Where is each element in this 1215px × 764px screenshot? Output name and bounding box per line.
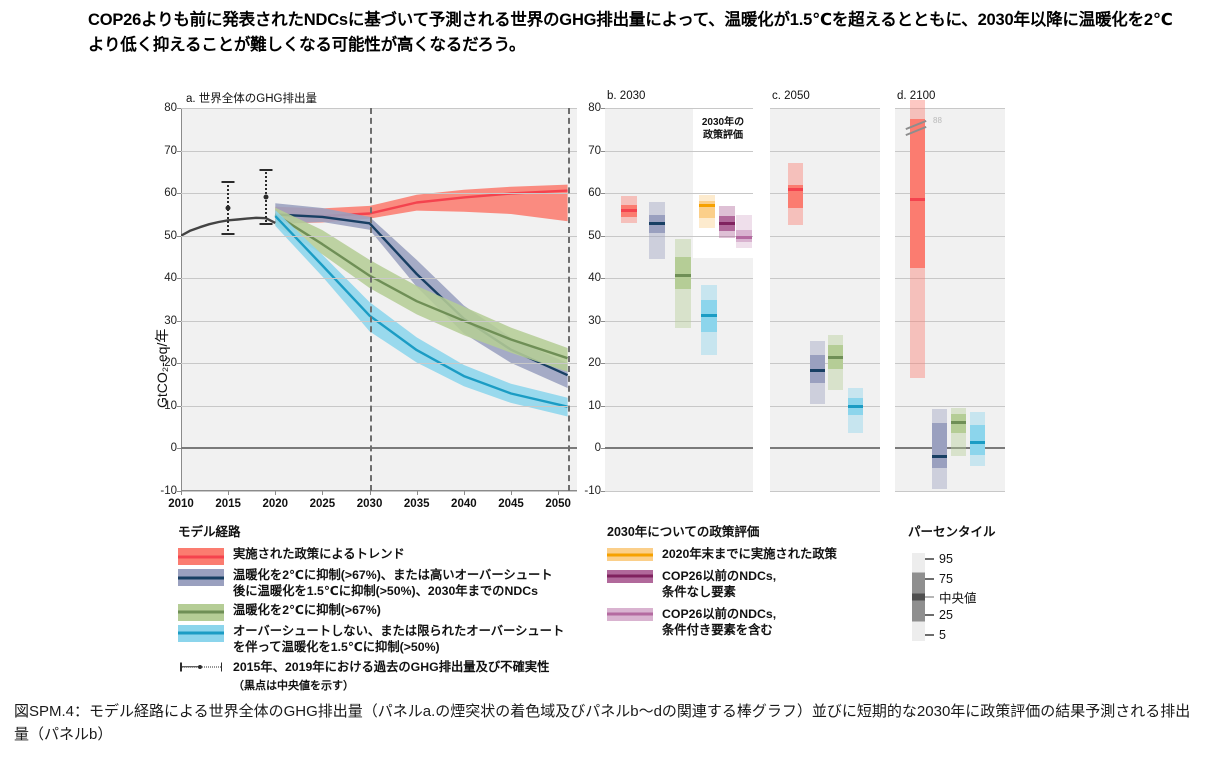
bar-median-line xyxy=(788,188,803,191)
y-tick-label: 40 xyxy=(151,272,177,284)
panel-b-title: b. 2030 xyxy=(607,90,645,102)
gridline xyxy=(181,278,577,279)
page-headline: COP26よりも前に発表されたNDCsに基づいて予測される世界のGHG排出量によ… xyxy=(88,8,1178,58)
x-tick-mark xyxy=(558,491,559,495)
gridline xyxy=(181,151,577,152)
bar-segment-p5-p25 xyxy=(828,369,843,389)
figure-spm4: GtCO₂-eq/年 a. 世界全体のGHG排出量 80706050403020… xyxy=(0,78,1215,693)
gridline xyxy=(770,321,880,322)
y-tick-mark xyxy=(601,363,605,364)
gridline xyxy=(770,193,880,194)
bar-segment-p75-p95 xyxy=(675,239,691,257)
x-tick-label: 2035 xyxy=(404,498,430,510)
y-tick-label: 40 xyxy=(575,272,601,284)
gridline xyxy=(605,363,753,364)
y-tick-label: 10 xyxy=(151,400,177,412)
gridline xyxy=(181,108,577,109)
bar-segment-p75-p95 xyxy=(848,388,863,398)
bar-column xyxy=(719,206,735,237)
bar-column xyxy=(699,195,715,228)
y-tick-mark xyxy=(601,448,605,449)
x-tick-mark xyxy=(417,491,418,495)
y-tick-label: 20 xyxy=(575,357,601,369)
y-tick-mark xyxy=(177,193,181,194)
panel-b-letter: b. xyxy=(607,90,617,102)
percentile-tick xyxy=(925,558,934,560)
y-tick-label: 60 xyxy=(575,187,601,199)
bar-segment-p5-p25 xyxy=(736,242,752,248)
bar-column xyxy=(828,335,843,389)
legend-swatch xyxy=(178,548,224,565)
bar-segment-p5-p25 xyxy=(788,208,803,225)
gridline xyxy=(181,321,577,322)
bar-segment-p5-p25 xyxy=(848,415,863,433)
bar-column xyxy=(736,215,752,248)
bar-column xyxy=(701,285,717,355)
percentile-gradient-bar xyxy=(912,553,925,641)
bar-column xyxy=(621,196,637,223)
bar-segment-p5-p25 xyxy=(910,268,925,379)
y-tick-mark xyxy=(177,406,181,407)
gridline xyxy=(770,363,880,364)
bar-segment-p75-p95 xyxy=(810,341,825,355)
legend-item-label: 実施された政策によるトレンド xyxy=(233,547,405,563)
bar-median-line xyxy=(621,209,637,212)
panel-c-title: c. 2050 xyxy=(772,90,810,102)
y-tick-mark xyxy=(177,278,181,279)
bar-segment-p5-p25 xyxy=(951,433,966,456)
percentile-tick xyxy=(925,634,934,636)
y-tick-mark xyxy=(601,236,605,237)
y-tick-label: 70 xyxy=(151,145,177,157)
legend-historic-row: 2015年、2019年における過去のGHG排出量及び不確実性 xyxy=(178,660,598,676)
zero-line xyxy=(181,447,577,449)
bar-segment-p75-p95 xyxy=(970,412,985,425)
legend-policy-assessment: 2030年についての政策評価 2020年末までに実施された政策COP26以前のN… xyxy=(607,521,897,645)
bar-segment-p5-p25 xyxy=(932,468,947,489)
legend-model-rows: 実施された政策によるトレンド温暖化を2℃に抑制(>67%)、または高いオーバーシ… xyxy=(178,547,598,656)
x-tick-label: 2050 xyxy=(545,498,571,510)
panel-d-plot: 88 xyxy=(895,108,1005,491)
percentile-label-row: 75 xyxy=(925,572,953,586)
legend-item-model-1: 温暖化を2℃に抑制(>67%)、または高いオーバーシュート後に温暖化を1.5℃に… xyxy=(178,568,598,600)
vertical-marker-2051 xyxy=(568,108,570,491)
zero-line xyxy=(895,447,1005,449)
percentile-tick xyxy=(925,596,934,598)
legend-item-label: 温暖化を2℃に抑制(>67%) xyxy=(233,603,381,619)
y-tick-label: 10 xyxy=(575,400,601,412)
panel-c-plot xyxy=(770,108,880,491)
y-tick-mark xyxy=(601,491,605,492)
figure-caption: 図SPM.4：モデル経路による世界全体のGHG排出量（パネルa.の煙突状の着色域… xyxy=(14,700,1204,747)
bar-segment-p25-p75 xyxy=(932,423,947,468)
bar-segment-p75-p95 xyxy=(932,409,947,423)
bar-segment-p75-p95 xyxy=(621,196,637,205)
legend-item-label: 温暖化を2℃に抑制(>67%)、または高いオーバーシュート後に温暖化を1.5℃に… xyxy=(233,568,553,600)
panel-b-plot: 2030年の政策評価 xyxy=(605,108,753,491)
legend-percentile-title: パーセンタイル xyxy=(908,521,1068,540)
percentile-label-row: 95 xyxy=(925,552,953,566)
percentile-label: 5 xyxy=(939,628,946,642)
y-tick-mark xyxy=(601,151,605,152)
bar-median-line xyxy=(970,441,985,444)
x-tick-label: 2015 xyxy=(215,498,241,510)
panel-a-title: a. 世界全体のGHG排出量 xyxy=(186,90,317,106)
bar-median-line xyxy=(848,405,863,408)
gridline xyxy=(181,363,577,364)
legend-item-label: COP26以前のNDCs,条件なし要素 xyxy=(662,569,776,601)
y-tick-label: 0 xyxy=(151,442,177,454)
x-tick-mark xyxy=(370,491,371,495)
bar-segment-p75-p95 xyxy=(910,100,925,119)
bar-segment-p25-p75 xyxy=(699,201,715,218)
bar-column xyxy=(675,239,691,328)
gridline xyxy=(770,108,880,109)
bar-median-line xyxy=(699,204,715,207)
percentile-label-row: 中央値 xyxy=(925,588,977,607)
bar-segment-p5-p25 xyxy=(810,383,825,403)
bar-segment-p5-p25 xyxy=(719,231,735,237)
bar-median-line xyxy=(649,222,665,225)
bar-median-line xyxy=(910,198,925,201)
gridline xyxy=(181,193,577,194)
x-tick-mark xyxy=(464,491,465,495)
x-tick-mark xyxy=(322,491,323,495)
y-tick-label: 30 xyxy=(575,315,601,327)
bar-segment-p5-p25 xyxy=(701,332,717,355)
y-tick-mark xyxy=(177,321,181,322)
y-tick-mark xyxy=(177,236,181,237)
bar-segment-p75-p95 xyxy=(736,215,752,230)
error-bar-2015 xyxy=(220,181,236,235)
y-tick-label: 30 xyxy=(151,315,177,327)
panel-c-name: 2050 xyxy=(784,90,810,102)
gridline xyxy=(895,406,1005,407)
y-tick-label: 70 xyxy=(575,145,601,157)
y-tick-mark xyxy=(177,363,181,364)
legend-swatch xyxy=(178,604,224,621)
gridline xyxy=(770,236,880,237)
error-bar-cap-high xyxy=(222,181,235,183)
error-bar-2019 xyxy=(258,169,274,224)
bar-median-line xyxy=(675,274,691,277)
bar-segment-p75-p95 xyxy=(788,163,803,184)
percentile-label: 95 xyxy=(939,552,953,566)
gridline xyxy=(770,406,880,407)
y-tick-mark xyxy=(601,406,605,407)
bar-segment-p75-p95 xyxy=(649,202,665,216)
panel-a-letter: a. xyxy=(186,93,196,105)
y-tick-label: 80 xyxy=(151,102,177,114)
y-tick-label: 60 xyxy=(151,187,177,199)
legend-item-label: 2020年末までに実施された政策 xyxy=(662,547,837,563)
bar-median-line xyxy=(736,236,752,239)
y-tick-mark xyxy=(601,108,605,109)
axis-break-marker xyxy=(905,122,931,136)
gridline xyxy=(605,406,753,407)
legend-historic-label: 2015年、2019年における過去のGHG排出量及び不確実性 xyxy=(233,660,549,676)
x-tick-label: 2045 xyxy=(498,498,524,510)
legend-swatch xyxy=(178,569,224,586)
bar-column xyxy=(951,408,966,457)
bar-column xyxy=(848,388,863,434)
legend-item-model-3: オーバーシュートしない、または限られたオーバーシュートを伴って温暖化を1.5℃に… xyxy=(178,624,598,656)
x-tick-label: 2030 xyxy=(357,498,383,510)
gridline xyxy=(605,151,753,152)
bar-segment-p75-p95 xyxy=(828,335,843,345)
legend-item-policy-2: COP26以前のNDCs,条件付き要素を含む xyxy=(607,607,897,639)
bar-segment-p5-p25 xyxy=(649,233,665,259)
x-tick-label: 2025 xyxy=(310,498,336,510)
bar-median-line xyxy=(951,421,966,424)
panel-a-ribbons xyxy=(181,108,577,491)
error-bar-median-dot xyxy=(226,206,231,211)
y-tick-label: 50 xyxy=(575,230,601,242)
y-tick-label: 50 xyxy=(151,230,177,242)
legend-item-label: COP26以前のNDCs,条件付き要素を含む xyxy=(662,607,776,639)
bar-column xyxy=(932,409,947,489)
y-tick-label: -10 xyxy=(151,485,177,497)
legend-item-model-0: 実施された政策によるトレンド xyxy=(178,547,598,565)
zero-line xyxy=(770,447,880,449)
gridline xyxy=(770,491,880,492)
y-tick-mark xyxy=(177,448,181,449)
legend-policy-title: 2030年についての政策評価 xyxy=(607,521,897,540)
legend-item-model-2: 温暖化を2℃に抑制(>67%) xyxy=(178,603,598,621)
gridline xyxy=(181,406,577,407)
bar-median-line xyxy=(932,455,947,458)
bar-segment-p5-p25 xyxy=(621,217,637,223)
bar-column xyxy=(810,341,825,404)
error-bar-icon xyxy=(178,660,224,674)
legend-model-title: モデル経路 xyxy=(178,521,598,540)
error-bar-cap-low xyxy=(222,233,235,235)
gridline xyxy=(605,108,753,109)
gridline xyxy=(770,278,880,279)
x-tick-label: 2010 xyxy=(168,498,194,510)
legend-item-policy-1: COP26以前のNDCs,条件なし要素 xyxy=(607,569,897,601)
y-tick-mark xyxy=(177,151,181,152)
zero-line xyxy=(605,447,753,449)
axis-break-note: 88 xyxy=(933,116,942,125)
bar-segment-p5-p25 xyxy=(699,218,715,228)
percentile-tick xyxy=(925,578,934,580)
legend-swatch xyxy=(607,570,653,583)
bar-column xyxy=(788,163,803,225)
error-bar-median-dot xyxy=(263,194,268,199)
x-tick-mark xyxy=(511,491,512,495)
gridline xyxy=(895,491,1005,492)
bar-segment-p5-p25 xyxy=(675,289,691,329)
percentile-label-row: 25 xyxy=(925,608,953,622)
x-tick-label: 2040 xyxy=(451,498,477,510)
panel-d-letter: d. xyxy=(897,90,907,102)
bar-segment-p25-p75 xyxy=(675,257,691,288)
percentile-label-row: 5 xyxy=(925,628,946,642)
bar-segment-p75-p95 xyxy=(951,408,966,415)
bar-segment-p75-p95 xyxy=(719,206,735,215)
legend-item-label: オーバーシュートしない、または限られたオーバーシュートを伴って温暖化を1.5℃に… xyxy=(233,624,564,656)
y-tick-label: 0 xyxy=(575,442,601,454)
legend-percentile: パーセンタイル 9575中央値255 xyxy=(908,521,1068,657)
legend-historic-sub: （黒点は中央値を示す） xyxy=(233,677,598,693)
bar-segment-p5-p25 xyxy=(970,455,985,466)
bar-median-line xyxy=(701,314,717,317)
bar-segment-p75-p95 xyxy=(701,285,717,300)
gridline xyxy=(181,236,577,237)
legend-model-pathways: モデル経路 実施された政策によるトレンド温暖化を2℃に抑制(>67%)、または高… xyxy=(178,521,598,693)
bar-column xyxy=(649,202,665,259)
panel-c-letter: c. xyxy=(772,90,781,102)
y-tick-mark xyxy=(601,278,605,279)
gridline xyxy=(605,491,753,492)
bar-median-line xyxy=(810,369,825,372)
x-tick-mark xyxy=(275,491,276,495)
bar-segment-p25-p75 xyxy=(970,425,985,455)
gridline xyxy=(605,193,753,194)
panel-a-name: 世界全体のGHG排出量 xyxy=(199,93,317,105)
bar-column xyxy=(970,412,985,466)
y-tick-label: 20 xyxy=(151,357,177,369)
legend-swatch xyxy=(178,625,224,642)
bar-median-line xyxy=(828,356,843,359)
x-tick-label: 2020 xyxy=(262,498,288,510)
vertical-marker-2030 xyxy=(370,108,372,491)
legend-swatch xyxy=(607,608,653,621)
error-bar-cap-low xyxy=(259,223,272,225)
legend-policy-rows: 2020年末までに実施された政策COP26以前のNDCs,条件なし要素COP26… xyxy=(607,547,897,639)
x-tick-mark xyxy=(228,491,229,495)
error-bar-cap-high xyxy=(259,169,272,171)
bar-column xyxy=(910,100,925,379)
percentile-tick xyxy=(925,614,934,616)
y-tick-mark xyxy=(601,193,605,194)
percentile-label: 中央値 xyxy=(939,588,977,607)
bar-median-line xyxy=(719,222,735,225)
legend-percentile-scale: 9575中央値255 xyxy=(908,547,1058,657)
legend-item-policy-0: 2020年末までに実施された政策 xyxy=(607,547,897,563)
x-tick-mark xyxy=(181,491,182,495)
policy-assessment-inset-label: 2030年の政策評価 xyxy=(693,117,753,142)
y-tick-mark xyxy=(177,108,181,109)
panel-a-plot xyxy=(181,108,577,491)
bar-segment-p25-p75 xyxy=(910,119,925,268)
y-tick-mark xyxy=(601,321,605,322)
gridline xyxy=(770,151,880,152)
y-tick-label: -10 xyxy=(575,485,601,497)
percentile-label: 75 xyxy=(939,572,953,586)
panel-b-name: 2030 xyxy=(620,90,646,102)
gridline xyxy=(181,491,577,492)
legend-swatch xyxy=(607,548,653,561)
y-tick-label: 80 xyxy=(575,102,601,114)
percentile-label: 25 xyxy=(939,608,953,622)
